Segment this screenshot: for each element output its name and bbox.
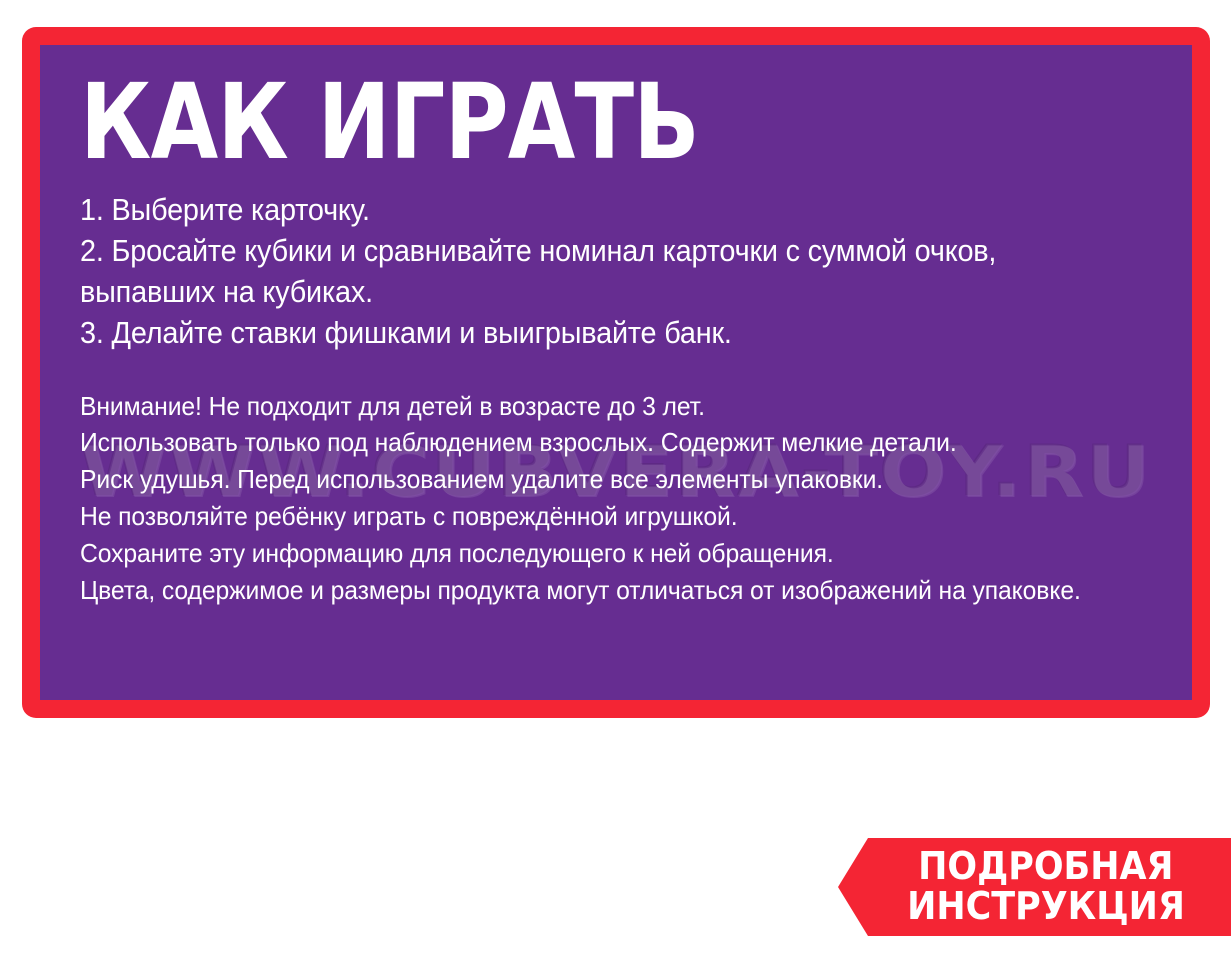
how-to-play-steps: 1. Выберите карточку. 2. Бросайте кубики… [80, 189, 1110, 354]
badge-line-2: ИНСТРУКЦИЯ [907, 887, 1185, 927]
list-item: Использовать только под наблюдением взро… [80, 424, 1116, 461]
instruction-purple-panel: WWW.CUBVERA-TOY.RU КАК ИГРАТЬ 1. Выберит… [40, 45, 1192, 700]
list-item: Сохраните эту информацию для последующег… [80, 535, 1116, 572]
instruction-red-frame: WWW.CUBVERA-TOY.RU КАК ИГРАТЬ 1. Выберит… [22, 27, 1210, 718]
badge-line-1: ПОДРОБНАЯ [918, 847, 1173, 887]
page-title: КАК ИГРАТЬ [80, 75, 986, 171]
list-item: Внимание! Не подходит для детей в возрас… [80, 388, 1116, 425]
list-item: 1. Выберите карточку. [80, 189, 1038, 230]
list-item: Риск удушья. Перед использованием удалит… [80, 461, 1116, 498]
list-item: 2. Бросайте кубики и сравнивайте номинал… [80, 230, 1038, 312]
list-item: 3. Делайте ставки фишками и выигрывайте … [80, 312, 1038, 353]
list-item: Цвета, содержимое и размеры продукта мог… [80, 572, 1116, 609]
detailed-instruction-badge: ПОДРОБНАЯ ИНСТРУКЦИЯ [838, 838, 1231, 936]
list-item: Не позволяйте ребёнку играть с повреждён… [80, 498, 1116, 535]
safety-warnings: Внимание! Не подходит для детей в возрас… [80, 388, 1170, 609]
